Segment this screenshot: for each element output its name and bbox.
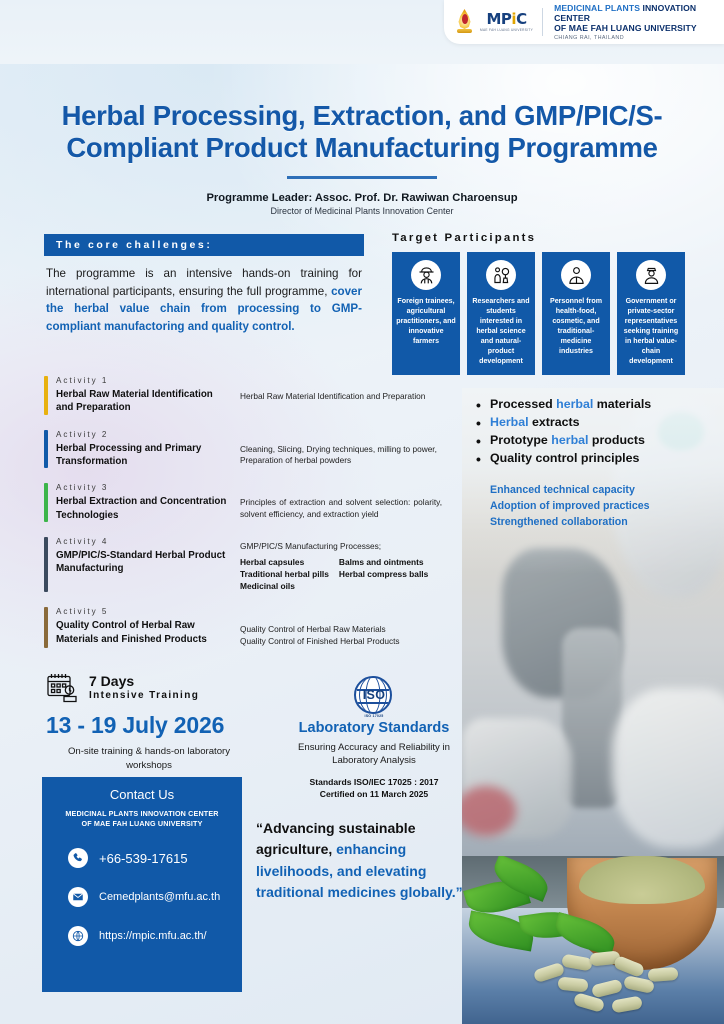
contact-email: Cemedplants@mfu.ac.th: [99, 891, 220, 903]
activity5-desc-line2: Quality Control of Finished Herbal Produ…: [240, 636, 464, 648]
header-line1-blue: MEDICINAL PLANTS: [554, 3, 642, 13]
outcome-sub-lines: Enhanced technical capacity Adoption of …: [476, 483, 722, 531]
mpic-logo-word-end: C: [516, 10, 527, 28]
outcome-pre: Prototype: [490, 433, 551, 447]
activities-list: Activity 1 Herbal Raw Material Identific…: [44, 376, 464, 660]
target-participants-heading: Target Participants: [392, 232, 690, 244]
lab-standard-line1: Standards ISO/IEC 17025 : 2017: [274, 777, 474, 789]
core-challenges-heading: The core challenges:: [44, 234, 364, 256]
activity-description: Herbal Raw Material Identification and P…: [228, 376, 464, 415]
activity-row-4: Activity 4 GMP/PIC/S-Standard Herbal Pro…: [44, 537, 464, 592]
mpic-logo-subtitle: MAE FAH LUANG UNIVERSITY: [480, 28, 533, 32]
mpic-logo: MPiC MAE FAH LUANG UNIVERSITY: [480, 12, 533, 32]
iso-sub: ISO 17025: [354, 714, 394, 718]
globe-icon: [68, 926, 88, 946]
title-underline: [287, 176, 437, 179]
days-count: 7 Days: [89, 674, 199, 689]
header-line2: OF MAE FAH LUANG UNIVERSITY: [554, 23, 714, 33]
contact-title: Contact Us: [54, 787, 230, 802]
page-title: Herbal Processing, Extraction, and GMP/P…: [0, 100, 724, 164]
outcome-post: products: [588, 433, 644, 447]
activity-description: GMP/PIC/S Manufacturing Processes; Herba…: [228, 537, 464, 592]
activity-number: Activity 1: [56, 376, 228, 385]
products-column-1: Herbal capsules Traditional herbal pills…: [240, 556, 329, 593]
header-divider: [542, 8, 543, 36]
laboratory-standards-section: ISO ISO 17025 Laboratory Standards Ensur…: [274, 676, 474, 801]
mfu-emblem-icon: [456, 9, 473, 35]
activity5-desc-line1: Quality Control of Herbal Raw Materials: [240, 624, 464, 636]
participant-card-government[interactable]: Government or private-sector representat…: [617, 252, 685, 375]
product-item: Traditional herbal pills: [240, 568, 329, 580]
products-column-2: Balms and ointments Herbal compress ball…: [339, 556, 428, 593]
product-item: Herbal capsules: [240, 556, 329, 568]
activity-number: Activity 3: [56, 483, 228, 492]
outcome-highlight: herbal: [551, 433, 588, 447]
product-item: Herbal compress balls: [339, 568, 428, 580]
activity-description: Cleaning, Slicing, Drying techniques, mi…: [228, 430, 464, 469]
activity-title: GMP/PIC/S-Standard Herbal Product Manufa…: [56, 549, 228, 576]
activity-title: Quality Control of Herbal Raw Materials …: [56, 619, 228, 646]
lab-standards-paragraph: Ensuring Accuracy and Reliability in Lab…: [274, 741, 474, 768]
activity-row-2: Activity 2 Herbal Processing and Primary…: [44, 430, 464, 469]
participant-label: Foreign trainees, agricultural practitio…: [396, 296, 456, 346]
contact-organisation: MEDICINAL PLANTS INNOVATION CENTER OF MA…: [54, 809, 230, 829]
mpic-logo-word: MP: [486, 10, 511, 28]
contact-org-line2: OF MAE FAH LUANG UNIVERSITY: [54, 819, 230, 829]
lab-standards-heading: Laboratory Standards: [274, 720, 474, 736]
training-note: On-site training & hands-on laboratory w…: [46, 745, 266, 772]
activity4-desc-intro: GMP/PIC/S Manufacturing Processes;: [240, 541, 464, 553]
right-photo-column: Processed herbal materials Herbal extrac…: [462, 388, 724, 1024]
activity-row-1: Activity 1 Herbal Raw Material Identific…: [44, 376, 464, 415]
leader-name: Programme Leader: Assoc. Prof. Dr. Rawiw…: [0, 192, 724, 204]
outcome-item: Prototype herbal products: [476, 432, 722, 450]
header-logo-bar: MPiC MAE FAH LUANG UNIVERSITY MEDICINAL …: [444, 0, 724, 44]
contact-email-row[interactable]: Cemedplants@mfu.ac.th: [54, 887, 230, 907]
participant-card-industry-personnel[interactable]: Personnel from health-food, cosmetic, an…: [542, 252, 610, 375]
core-text-plain: The programme is an intensive hands-on t…: [46, 267, 362, 298]
product-item: Balms and ointments: [339, 556, 428, 568]
core-challenges-body: The programme is an intensive hands-on t…: [44, 256, 364, 335]
participant-label: Researchers and students interested in h…: [471, 296, 531, 366]
closing-quote: “Advancing sustainable agriculture, enha…: [256, 818, 466, 903]
activity-number: Activity 4: [56, 537, 228, 546]
outcome-highlight: herbal: [556, 397, 593, 411]
outcome-sub-line: Enhanced technical capacity: [490, 483, 722, 499]
iso-word: ISO: [354, 688, 394, 702]
activity-description: Principles of extraction and solvent sel…: [228, 483, 464, 522]
outcome-post: extracts: [529, 415, 580, 429]
government-officer-icon: [636, 260, 666, 290]
training-dates-section: 7 Days Intensive Training 13 - 19 July 2…: [46, 672, 266, 772]
leader-role: Director of Medicinal Plants Innovation …: [0, 206, 724, 216]
activity-row-3: Activity 3 Herbal Extraction and Concent…: [44, 483, 464, 522]
activity-title: Herbal Raw Material Identification and P…: [56, 388, 228, 415]
activity-number: Activity 5: [56, 607, 228, 616]
activity-title: Herbal Processing and Primary Transforma…: [56, 442, 228, 469]
participant-card-researchers[interactable]: Researchers and students interested in h…: [467, 252, 535, 375]
contact-website-row[interactable]: https://mpic.mfu.ac.th/: [54, 926, 230, 946]
days-kind: Intensive Training: [89, 690, 199, 701]
header-line3: CHIANG RAI, THAILAND: [554, 35, 714, 41]
farmer-icon: [411, 260, 441, 290]
outcome-pre: Processed: [490, 397, 556, 411]
activity-number: Activity 2: [56, 430, 228, 439]
calendar-icon: [46, 672, 80, 703]
training-date-range: 13 - 19 July 2026: [46, 712, 266, 739]
activity-title: Herbal Extraction and Concentration Tech…: [56, 495, 228, 522]
lab-standard-line2: Certified on 11 March 2025: [274, 789, 474, 801]
outcome-pre: Quality control principles: [490, 451, 639, 465]
researcher-plants-icon: [486, 260, 516, 290]
activity-row-5: Activity 5 Quality Control of Herbal Raw…: [44, 607, 464, 648]
iso-certification-icon: ISO ISO 17025: [354, 676, 394, 716]
poster-canvas: MPiC MAE FAH LUANG UNIVERSITY MEDICINAL …: [0, 0, 724, 1024]
contact-phone: +66-539-17615: [99, 851, 188, 866]
header-institution-text: MEDICINAL PLANTS INNOVATION CENTER OF MA…: [554, 3, 714, 41]
outcome-item: Herbal extracts: [476, 414, 722, 432]
target-participant-cards: Foreign trainees, agricultural practitio…: [392, 252, 690, 375]
outcome-highlight: Herbal: [490, 415, 529, 429]
target-participants-section: Target Participants Foreign trainees, ag…: [392, 232, 690, 375]
outcome-item: Processed herbal materials: [476, 396, 722, 414]
outcomes-list: Processed herbal materials Herbal extrac…: [476, 396, 722, 531]
contact-panel: Contact Us MEDICINAL PLANTS INNOVATION C…: [42, 777, 242, 992]
participant-label: Personnel from health-food, cosmetic, an…: [546, 296, 606, 356]
core-challenges-section: The core challenges: The programme is an…: [44, 234, 364, 335]
activity4-products: Herbal capsules Traditional herbal pills…: [240, 556, 464, 593]
contact-website: https://mpic.mfu.ac.th/: [99, 930, 207, 942]
contact-org-line1: MEDICINAL PLANTS INNOVATION CENTER: [54, 809, 230, 819]
phone-icon: [68, 848, 88, 868]
outcome-sub-line: Adoption of improved practices: [490, 499, 722, 515]
activity-description: Quality Control of Herbal Raw Materials …: [228, 607, 464, 648]
programme-leader: Programme Leader: Assoc. Prof. Dr. Rawiw…: [0, 192, 724, 216]
title-block: Herbal Processing, Extraction, and GMP/P…: [0, 100, 724, 216]
outcome-item: Quality control principles: [476, 450, 722, 468]
participant-card-farmers[interactable]: Foreign trainees, agricultural practitio…: [392, 252, 460, 375]
product-item: Medicinal oils: [240, 580, 329, 592]
outcome-sub-line: Strengthened collaboration: [490, 515, 722, 531]
herbal-products-photo: [462, 856, 724, 1024]
participant-label: Government or private-sector representat…: [621, 296, 681, 366]
mail-icon: [68, 887, 88, 907]
contact-phone-row[interactable]: +66-539-17615: [54, 848, 230, 868]
outcome-post: materials: [593, 397, 651, 411]
personnel-icon: [561, 260, 591, 290]
